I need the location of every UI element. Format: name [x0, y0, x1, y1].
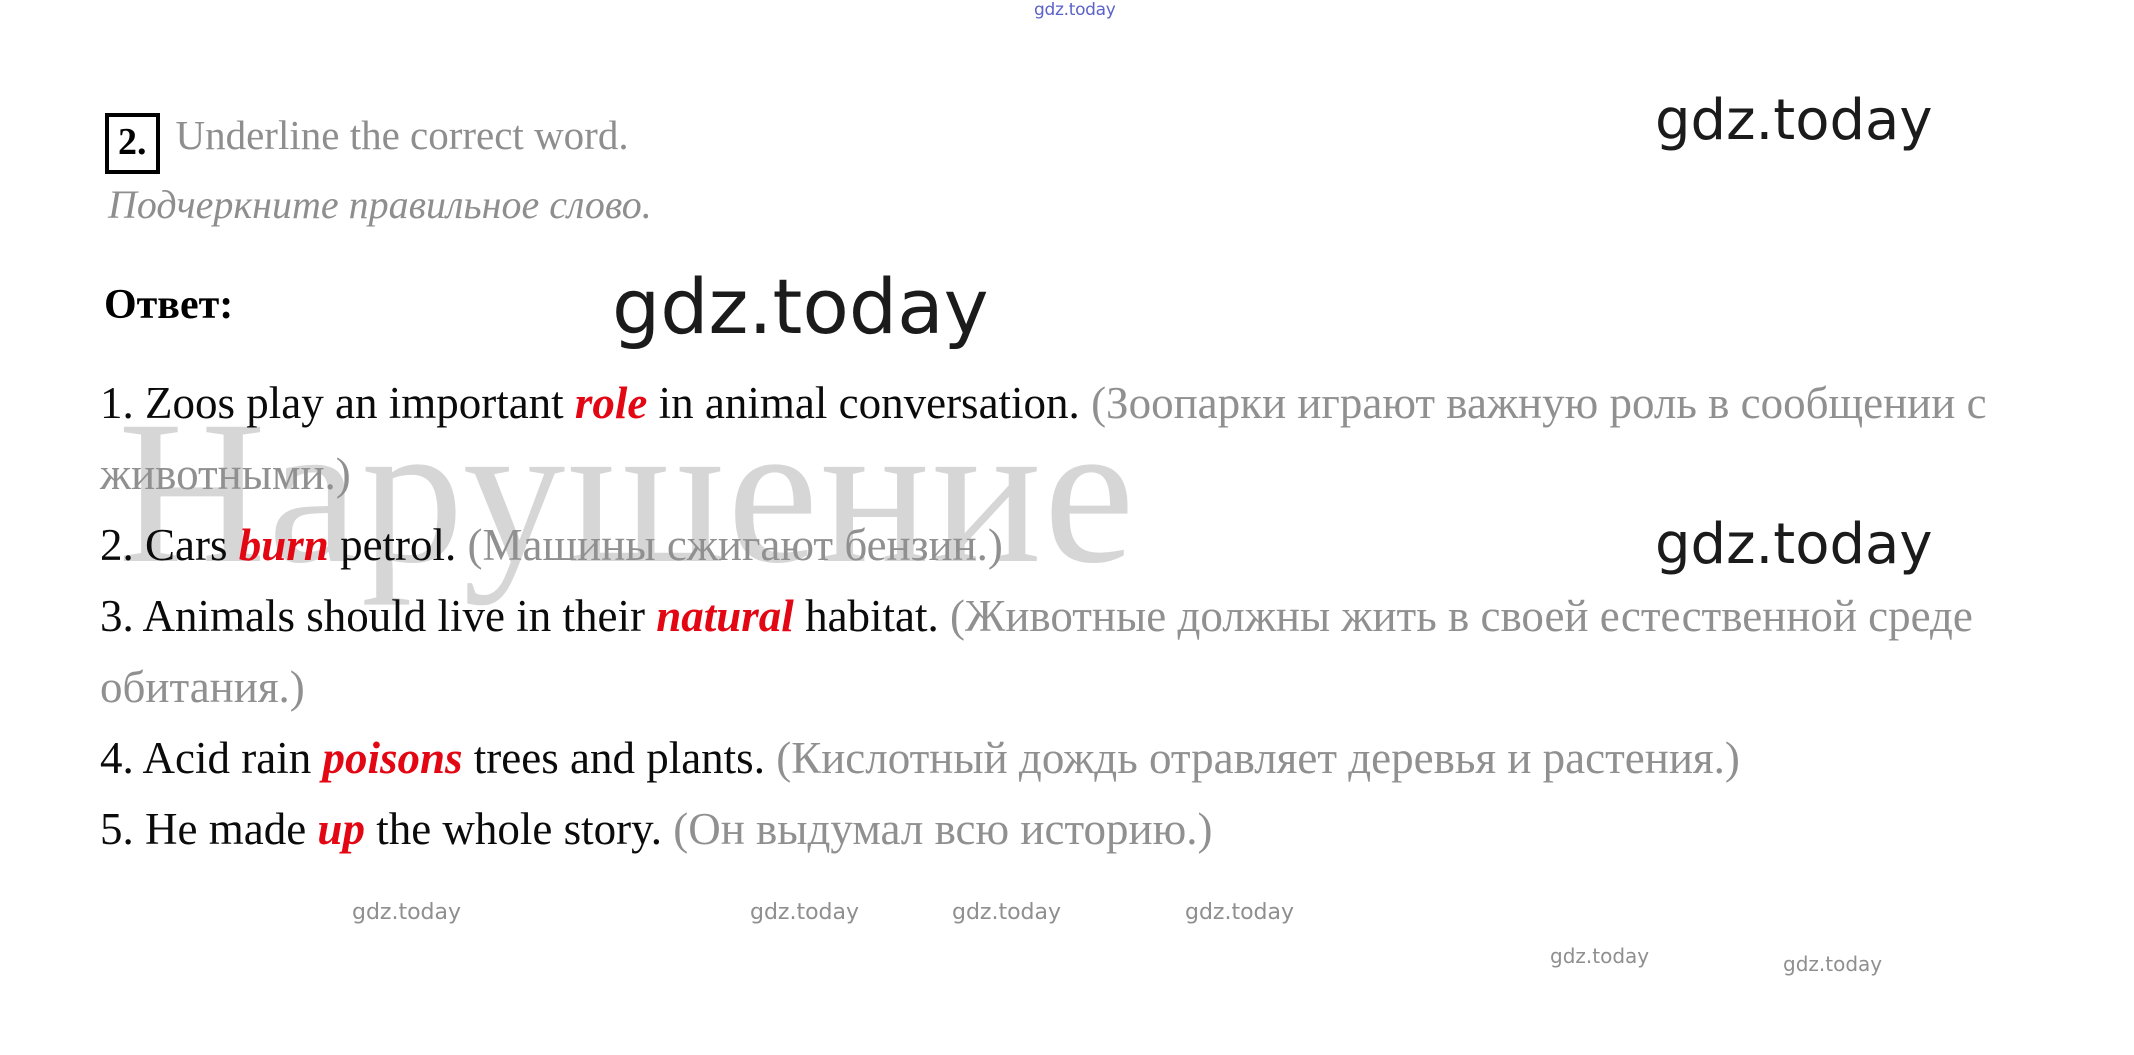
answer-index: 2. — [100, 520, 145, 570]
answer-text-after: petrol. — [329, 520, 468, 570]
answer-label: Ответ: — [104, 284, 233, 326]
watermark-small: gdz.today — [1783, 952, 1882, 976]
answer-text-before: Acid rain — [143, 733, 323, 783]
watermark-small: gdz.today — [352, 900, 461, 925]
answer-highlight-word: up — [317, 804, 365, 854]
watermark-small: gdz.today — [1550, 944, 1649, 968]
task-title: Underline the correct word. — [176, 115, 629, 156]
answer-index: 3. — [100, 591, 143, 641]
answer-text-before: Zoos play an important — [145, 378, 575, 428]
list-item: 1. Zoos play an important role in animal… — [100, 368, 2090, 510]
watermark-small: gdz.today — [952, 900, 1061, 925]
watermark-small: gdz.today — [750, 900, 859, 925]
answer-translation: (Кислотный дождь отравляет деревья и рас… — [776, 733, 1740, 783]
answer-text-before: Animals should live in their — [143, 591, 657, 641]
answer-list: 1. Zoos play an important role in animal… — [100, 368, 2090, 865]
answer-index: 5. — [100, 804, 145, 854]
answer-highlight-word: burn — [239, 520, 329, 570]
task-subtitle-russian: Подчеркните правильное слово. — [108, 185, 652, 225]
watermark-middle-large: gdz.today — [612, 262, 989, 351]
watermark-top: gdz.today — [1034, 0, 1116, 20]
answer-highlight-word: natural — [656, 591, 794, 641]
answer-index: 4. — [100, 733, 143, 783]
answer-text-after: in animal conversation. — [647, 378, 1091, 428]
task-number-box: 2. — [105, 113, 160, 174]
answer-text-after: the whole story. — [365, 804, 673, 854]
answer-text-before: He made — [145, 804, 317, 854]
answer-text-before: Cars — [145, 520, 239, 570]
list-item: 3. Animals should live in their natural … — [100, 581, 2090, 723]
answer-text-after: habitat. — [794, 591, 950, 641]
answer-index: 1. — [100, 378, 145, 428]
task-header: 2. Underline the correct word. — [105, 108, 629, 169]
worksheet-page: gdz.today Нарушение gdz.today gdz.today … — [0, 0, 2134, 1055]
watermark-header-large: gdz.today — [1655, 88, 1933, 153]
answer-highlight-word: role — [575, 378, 648, 428]
answer-translation: (Он выдумал всю историю.) — [673, 804, 1212, 854]
answer-highlight-word: poisons — [322, 733, 462, 783]
list-item: 5. He made up the whole story. (Он выдум… — [100, 794, 2090, 865]
answer-text-after: trees and plants. — [463, 733, 777, 783]
list-item: 2. Cars burn petrol. (Машины сжигают бен… — [100, 510, 2090, 581]
list-item: 4. Acid rain poisons trees and plants. (… — [100, 723, 2090, 794]
watermark-small: gdz.today — [1185, 900, 1294, 925]
answer-translation: (Машины сжигают бензин.) — [468, 520, 1003, 570]
